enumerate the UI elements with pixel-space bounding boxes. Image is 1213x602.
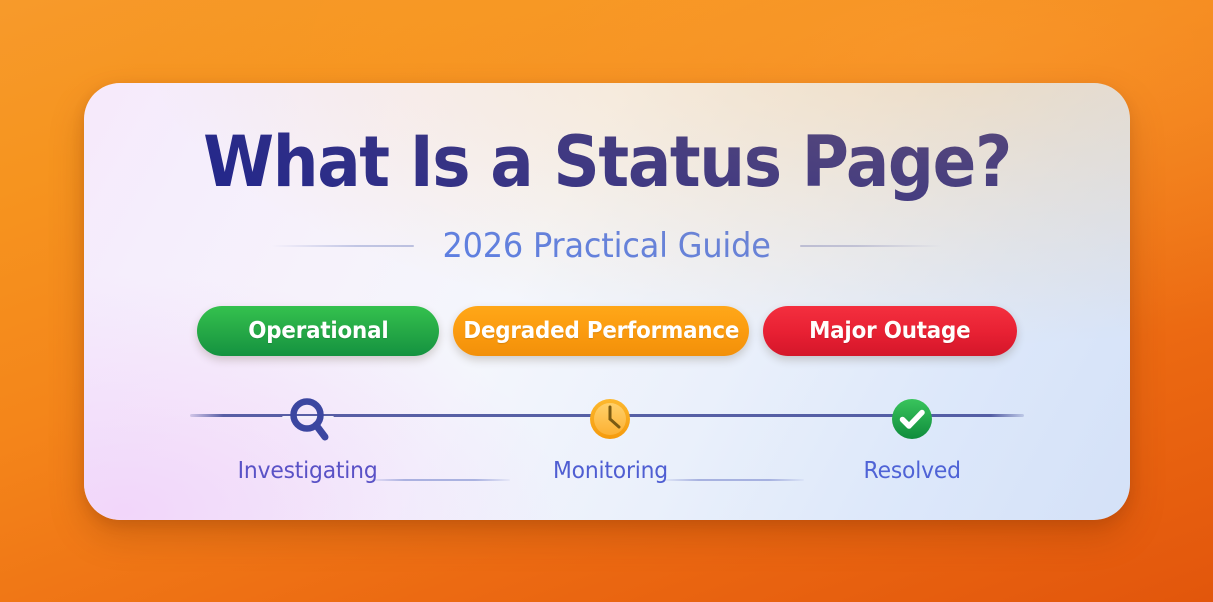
status-pill-degraded[interactable]: Degraded Performance: [453, 306, 749, 356]
subtitle-rule-right: [800, 245, 942, 247]
page-subtitle: 2026 Practical Guide: [443, 226, 771, 266]
status-pill-group: Operational Degraded Performance Major O…: [84, 306, 1130, 356]
timeline-step-investigating-label: Investigating: [238, 458, 378, 484]
status-pill-operational-label: Operational: [248, 318, 388, 344]
status-pill-degraded-label: Degraded Performance: [463, 318, 739, 344]
status-pill-major-outage[interactable]: Major Outage: [763, 306, 1017, 356]
timeline-step-resolved[interactable]: Resolved: [822, 398, 1002, 484]
timeline-step-resolved-label: Resolved: [863, 458, 960, 484]
incident-timeline: Investigating: [190, 398, 1024, 498]
clock-icon: [583, 398, 637, 442]
timeline-step-monitoring-label: Monitoring: [553, 458, 668, 484]
magnifier-icon: [281, 398, 335, 442]
status-pill-major-outage-label: Major Outage: [809, 318, 970, 344]
check-circle-icon: [885, 398, 939, 442]
status-pill-operational[interactable]: Operational: [197, 306, 439, 356]
poster-canvas: What Is a Status Page? 2026 Practical Gu…: [0, 0, 1213, 602]
timeline-step-monitoring[interactable]: Monitoring: [520, 398, 700, 484]
subtitle-row: 2026 Practical Guide: [84, 226, 1130, 266]
page-title: What Is a Status Page?: [126, 127, 1088, 197]
subtitle-rule-left: [272, 245, 414, 247]
timeline-step-investigating[interactable]: Investigating: [218, 398, 398, 484]
status-page-card: What Is a Status Page? 2026 Practical Gu…: [84, 83, 1130, 520]
